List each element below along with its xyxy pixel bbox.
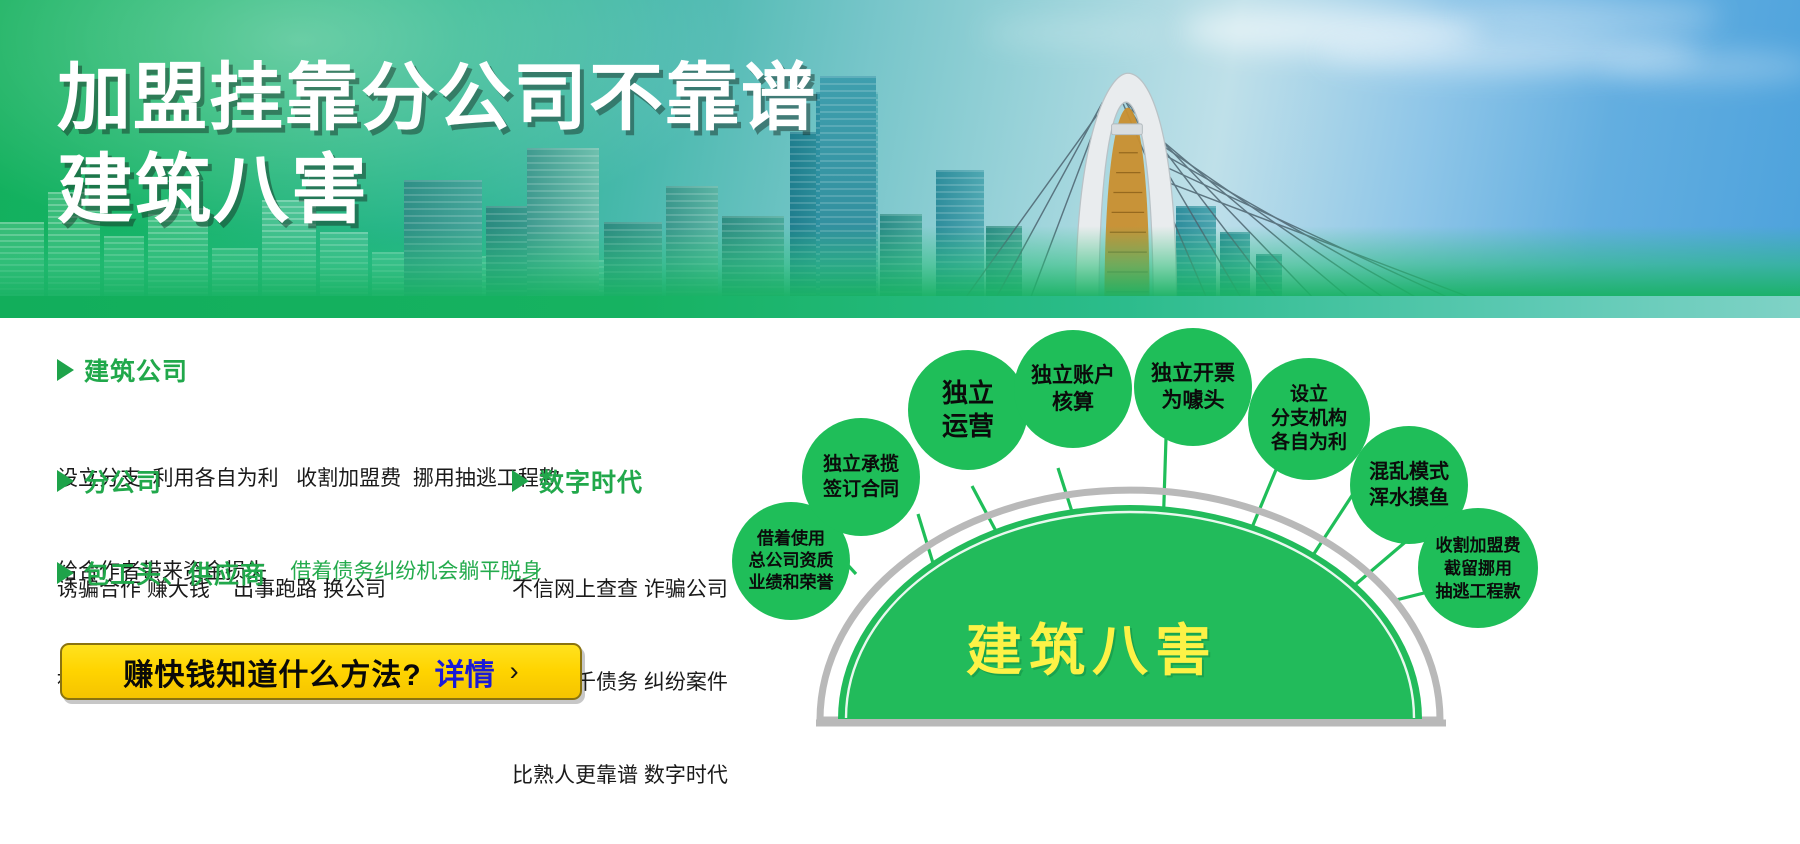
section-title: 建筑公司 (84, 352, 188, 388)
cta-details-link[interactable]: 详情 (435, 650, 495, 694)
bubble-4[interactable]: 独立账户 核算 (1014, 330, 1132, 448)
bubble-2[interactable]: 独立承揽 签订合同 (802, 418, 920, 536)
section-header: 数字时代 (512, 463, 728, 499)
ad-banner: 加盟挂靠分公司不靠谱 建筑八害 建筑公司 设立分支 利用各自为利 收割加盟费 挪… (0, 0, 1800, 844)
bubble-7-label: 混乱模式 浑水摸鱼 (1369, 459, 1449, 511)
section-title: 数字时代 (539, 463, 643, 499)
bubble-8[interactable]: 收割加盟费 截留挪用 抽逃工程款 (1418, 508, 1538, 628)
bubble-1-label: 借着使用 总公司资质 业绩和荣誉 (749, 528, 834, 594)
cta-label: 赚快钱知道什么方法? (123, 650, 421, 694)
hero-title-line1: 加盟挂靠分公司不靠谱 (57, 58, 817, 138)
cta-button[interactable]: 赚快钱知道什么方法? 详情 › (60, 643, 582, 700)
bubble-5[interactable]: 独立开票 为噱头 (1134, 328, 1252, 446)
radial-diagram: 借着使用 总公司资质 业绩和荣誉 独立承揽 签订合同 独立 运营 独立账户 核算… (790, 318, 1800, 844)
section-body-line3: 比熟人更靠谱 数字时代 (512, 760, 728, 791)
chevron-right-icon: › (510, 656, 519, 687)
triangle-bullet-icon (57, 470, 74, 492)
bubble-2-label: 独立承揽 签订合同 (823, 452, 899, 502)
bubble-5-label: 独立开票 为噱头 (1151, 360, 1235, 414)
section-body-line1: 不信网上查查 诈骗公司 (512, 574, 728, 605)
left-content: 建筑公司 设立分支 利用各自为利 收割加盟费 挪用抽逃工程款 给合作者带来资金损… (0, 318, 800, 844)
section-header: 包工头、供应商 (57, 555, 395, 591)
page-title: 加盟挂靠分公司不靠谱 建筑八害 (57, 58, 817, 234)
section-title: 分公司 (84, 463, 162, 499)
bubble-6-label: 设立 分支机构 各自为利 (1271, 383, 1347, 455)
bubble-3[interactable]: 独立 运营 (908, 350, 1028, 470)
dome-center-label: 建筑八害 (966, 606, 1218, 687)
hero-base-bar (0, 296, 1800, 318)
hero-banner: 加盟挂靠分公司不靠谱 建筑八害 (0, 0, 1800, 318)
triangle-bullet-icon (57, 359, 74, 381)
bubble-8-label: 收割加盟费 截留挪用 抽逃工程款 (1436, 534, 1521, 603)
section-header: 建筑公司 (57, 352, 560, 388)
triangle-bullet-icon (57, 562, 74, 584)
bubble-4-label: 独立账户 核算 (1031, 362, 1115, 416)
triangle-bullet-icon (512, 470, 529, 492)
bubble-3-label: 独立 运营 (942, 377, 994, 443)
hero-fade (0, 226, 1800, 296)
hero-title-line2: 建筑八害 (57, 148, 817, 234)
section-header: 分公司 (57, 463, 386, 499)
section-title: 包工头、供应商 (84, 555, 266, 591)
bubble-6[interactable]: 设立 分支机构 各自为利 (1248, 358, 1370, 480)
